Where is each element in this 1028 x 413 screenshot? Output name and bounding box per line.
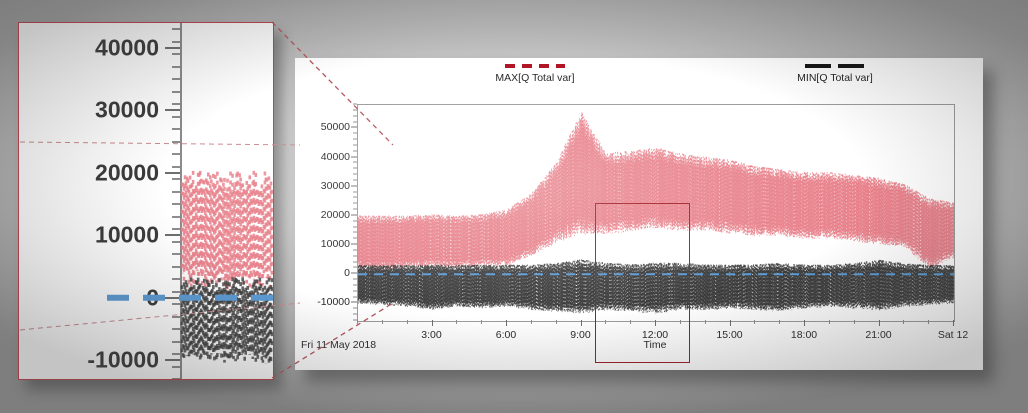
x-tick-minor: [481, 320, 482, 324]
legend-item-max[interactable]: MAX[Q Total var]: [455, 64, 615, 84]
zoom-inset-panel: 400003000020000100000-10000: [18, 22, 274, 380]
y-tick-label: 0: [344, 267, 350, 279]
y-tick-label: 40000: [321, 151, 350, 163]
y-tick-label: 50000: [321, 121, 350, 133]
x-tick-mark: [804, 320, 805, 326]
legend-item-min[interactable]: MIN[Q Total var]: [755, 64, 915, 84]
x-tick-minor: [407, 320, 408, 324]
chart-card: MAX[Q Total var] MIN[Q Total var] 500004…: [295, 58, 983, 370]
inset-plot-area: [107, 23, 273, 379]
x-tick-minor: [531, 320, 532, 324]
y-axis: 50000400003000020000100000-10000: [295, 104, 357, 320]
x-tick-minor: [754, 320, 755, 324]
x-tick-minor: [382, 320, 383, 324]
y-tick-label: 10000: [321, 238, 350, 250]
x-tick-mark: [655, 320, 656, 326]
y-tick-label: 20000: [321, 209, 350, 221]
legend-swatch-min-icon: [805, 64, 865, 68]
x-tick-minor: [705, 320, 706, 324]
x-tick-mark: [879, 320, 880, 326]
x-tick-minor: [630, 320, 631, 324]
x-tick-minor: [556, 320, 557, 324]
inset-series-max: [182, 171, 272, 290]
y-tick-label: 30000: [321, 180, 350, 192]
x-tick-minor: [357, 320, 358, 324]
x-tick-minor: [854, 320, 855, 324]
x-tick-minor: [680, 320, 681, 324]
inset-series-canvas: [107, 23, 273, 379]
x-tick-mark: [581, 320, 582, 326]
x-tick-minor: [605, 320, 606, 324]
screenshot-stage: MAX[Q Total var] MIN[Q Total var] 500004…: [0, 0, 1028, 413]
x-tick-minor: [903, 320, 904, 324]
legend-swatch-max-icon: [505, 64, 565, 68]
x-tick-minor: [456, 320, 457, 324]
chart-legend: MAX[Q Total var] MIN[Q Total var]: [295, 64, 983, 98]
x-tick-mark: [506, 320, 507, 326]
y-tick-label: -10000: [317, 296, 350, 308]
x-tick-mark: [953, 320, 954, 326]
inset-series-min: [182, 277, 272, 363]
x-axis-title: Time: [357, 339, 953, 351]
series-canvas: [358, 105, 954, 321]
series-min: [358, 259, 954, 313]
x-tick-mark: [432, 320, 433, 326]
x-tick-minor: [928, 320, 929, 324]
x-tick-minor: [779, 320, 780, 324]
x-tick-mark: [730, 320, 731, 326]
series-max: [358, 112, 954, 270]
legend-label-max: MAX[Q Total var]: [455, 72, 615, 84]
plot-area: [357, 104, 955, 322]
legend-label-min: MIN[Q Total var]: [755, 72, 915, 84]
x-tick-minor: [829, 320, 830, 324]
